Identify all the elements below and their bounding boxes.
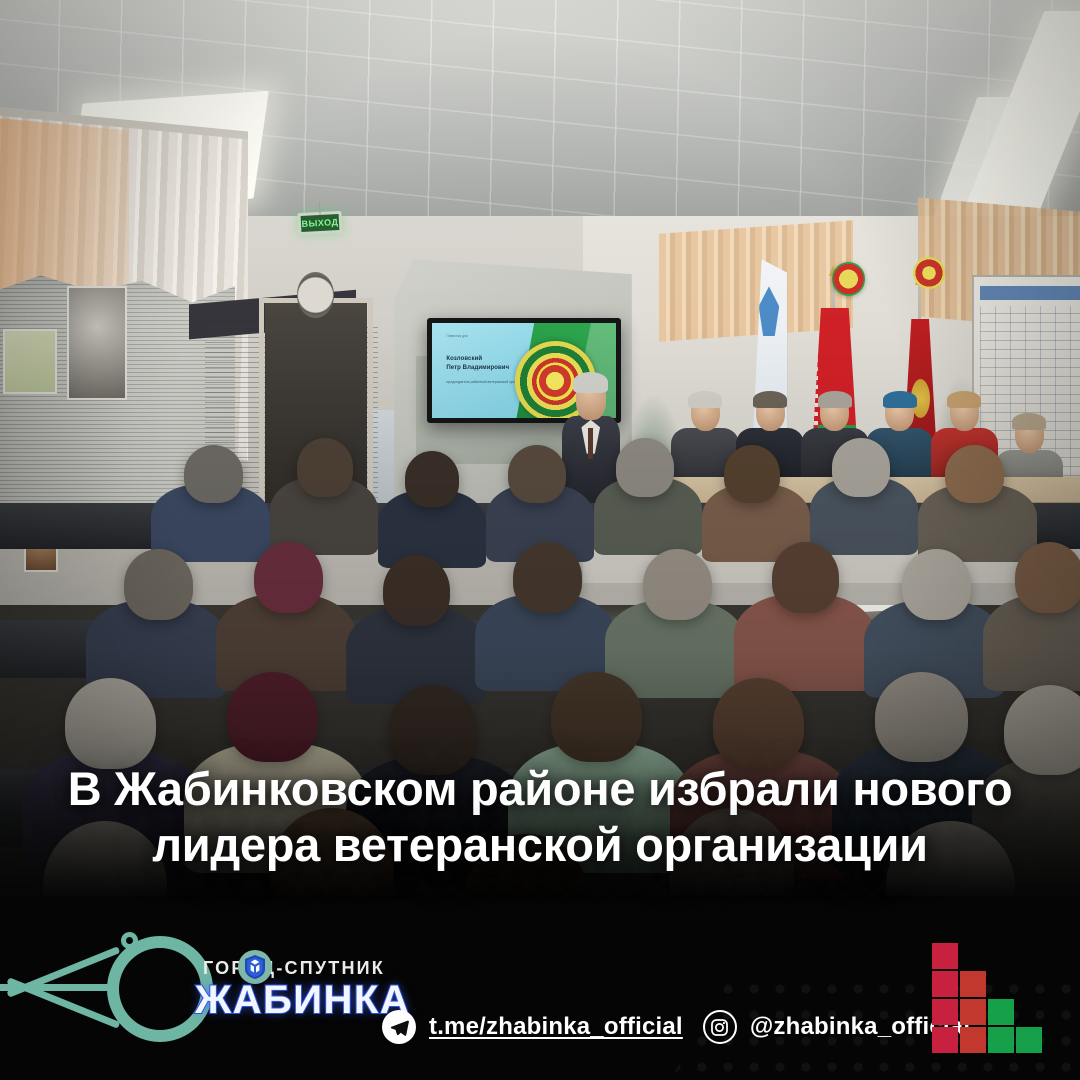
logo-name: ЖАБИНКА (195, 978, 410, 1023)
brand-bar: ГОРОД-СПУТНИК ЖАБИНКА (0, 891, 1080, 1080)
mark-block-red_alt (960, 999, 986, 1025)
mark-block-green (1016, 1027, 1042, 1053)
headline-line-1: В Жабинковском районе избрали нового (22, 761, 1058, 816)
mark-block-red (932, 999, 958, 1025)
instagram-link[interactable]: @zhabinka_official (703, 1010, 970, 1044)
telegram-handle: t.me/zhabinka_official (429, 1013, 683, 1041)
headline: В Жабинковском районе избрали нового лид… (0, 761, 1080, 872)
mark-block-red_alt (960, 1027, 986, 1053)
instagram-icon (703, 1010, 737, 1044)
logo-tagline: ГОРОД-СПУТНИК (203, 958, 385, 979)
zhabinka-logo[interactable]: ГОРОД-СПУТНИК ЖАБИНКА (85, 930, 335, 1048)
mark-block-red (932, 971, 958, 997)
mark-block-red (932, 943, 958, 969)
telegram-icon (382, 1010, 416, 1044)
mark-block-red_alt (960, 971, 986, 997)
mark-block-red (932, 1027, 958, 1053)
mark-block-green (988, 999, 1014, 1025)
mark-block-green (988, 1027, 1014, 1053)
telegram-link[interactable]: t.me/zhabinka_official (382, 1010, 683, 1044)
news-card: ВЫХОД Повестка дня Козловский Петр (0, 0, 1080, 1080)
social-links: t.me/zhabinka_official @zhabinka_officia… (382, 1010, 970, 1044)
headline-line-2: лидера ветеранской организации (22, 817, 1058, 872)
staircase-blocks-mark (932, 943, 1050, 1055)
logo-satellite-icon (121, 932, 138, 949)
